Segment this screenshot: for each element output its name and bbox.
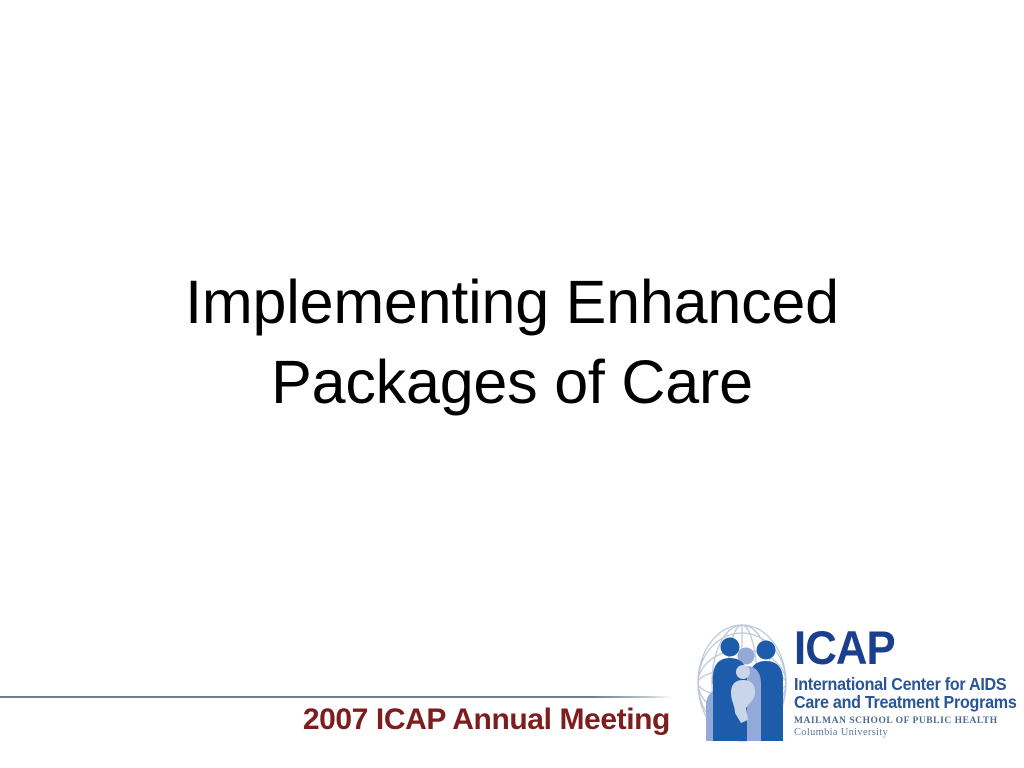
columbia-university-label: Columbia University: [794, 727, 1016, 739]
icap-tagline-line-2: Care and Treatment Programs: [794, 693, 998, 711]
footer-meeting-label: 2007 ICAP Annual Meeting: [0, 703, 670, 737]
icap-globe-family-icon: [686, 620, 798, 746]
footer-divider: [0, 696, 672, 698]
icap-wordmark: ICAP International Center for AIDS Care …: [794, 624, 1016, 739]
title-line-2: Packages of Care: [0, 342, 1024, 422]
mailman-school-label: MAILMAN SCHOOL OF PUBLIC HEALTH: [794, 716, 1016, 727]
icap-tagline-line-1: International Center for AIDS: [794, 675, 998, 693]
page-title: Implementing Enhanced Packages of Care: [0, 262, 1024, 422]
icap-acronym: ICAP: [794, 624, 1000, 671]
presentation-slide: Implementing Enhanced Packages of Care 2…: [0, 0, 1024, 768]
title-line-1: Implementing Enhanced: [0, 262, 1024, 342]
icap-logo: ICAP International Center for AIDS Care …: [686, 620, 1016, 752]
